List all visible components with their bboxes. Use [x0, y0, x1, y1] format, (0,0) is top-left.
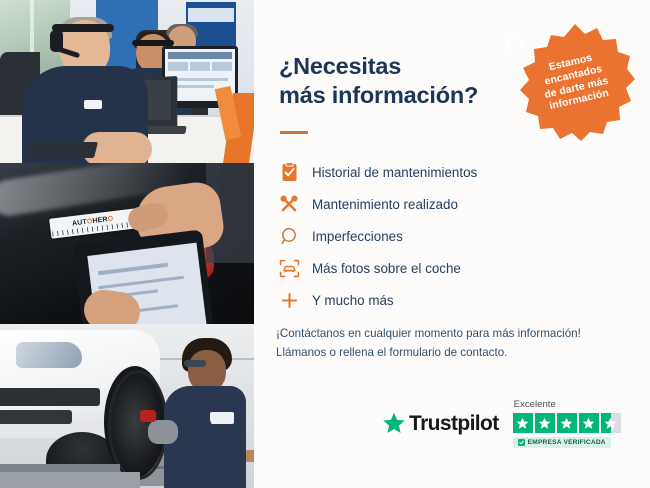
trustpilot-wordmark: Trustpilot	[409, 412, 499, 436]
contact-text: ¡Contáctanos en cualquier momento para m…	[276, 325, 581, 363]
star-filled	[535, 413, 555, 433]
contact-line-1: ¡Contáctanos en cualquier momento para m…	[276, 325, 581, 344]
trustpilot-logo: Trustpilot	[382, 412, 499, 436]
star-filled	[557, 413, 577, 433]
call-center-agents-photo	[0, 0, 254, 163]
feature-list: Historial de mantenimientos Mantenimient…	[274, 156, 544, 316]
feature-item-imperfections: Imperfecciones	[274, 220, 544, 252]
feature-label: Y mucho más	[312, 293, 394, 308]
star-filled	[513, 413, 533, 433]
content-panel: ¿Necesitas más información? Estamos enca…	[254, 0, 650, 488]
trustpilot-rating-label: Excelente	[514, 399, 556, 410]
trustpilot-widget[interactable]: Trustpilot Excelente	[382, 399, 621, 448]
tools-icon	[274, 189, 304, 219]
promo-starburst-badge: Estamos encantados de darte más informac…	[515, 22, 635, 142]
trustpilot-stars	[513, 413, 621, 433]
trustpilot-star-icon	[382, 412, 406, 435]
title-underline-rule	[280, 131, 308, 134]
car-scan-icon	[274, 253, 304, 283]
contact-line-2: Llámanos o rellena el formulario de cont…	[276, 344, 581, 363]
workshop-mechanic-photo	[0, 324, 254, 488]
verified-label: EMPRESA VERIFICADA	[528, 439, 606, 446]
feature-label: Imperfecciones	[312, 229, 403, 244]
star-half	[601, 413, 621, 433]
feature-label: Historial de mantenimientos	[312, 165, 477, 180]
headline-line-1: ¿Necesitas	[279, 52, 478, 81]
clipboard-check-icon	[274, 157, 304, 187]
check-icon	[518, 439, 525, 446]
magnifier-icon	[274, 221, 304, 251]
feature-label: Mantenimiento realizado	[312, 197, 458, 212]
star-filled	[579, 413, 599, 433]
info-banner: AUTOHERO	[0, 0, 650, 488]
feature-item-much-more: Y mucho más	[274, 284, 544, 316]
car-inspection-photo: AUTOHERO	[0, 163, 254, 324]
feature-item-more-photos: Más fotos sobre el coche	[274, 252, 544, 284]
plus-icon	[274, 285, 304, 315]
feature-label: Más fotos sobre el coche	[312, 261, 461, 276]
feature-item-maintenance-history: Historial de mantenimientos	[274, 156, 544, 188]
headline-line-2: más información?	[279, 81, 478, 110]
feature-item-maintenance-done: Mantenimiento realizado	[274, 188, 544, 220]
photo-column: AUTOHERO	[0, 0, 254, 488]
page-title: ¿Necesitas más información?	[279, 52, 478, 110]
verified-company-badge: EMPRESA VERIFICADA	[513, 437, 611, 448]
